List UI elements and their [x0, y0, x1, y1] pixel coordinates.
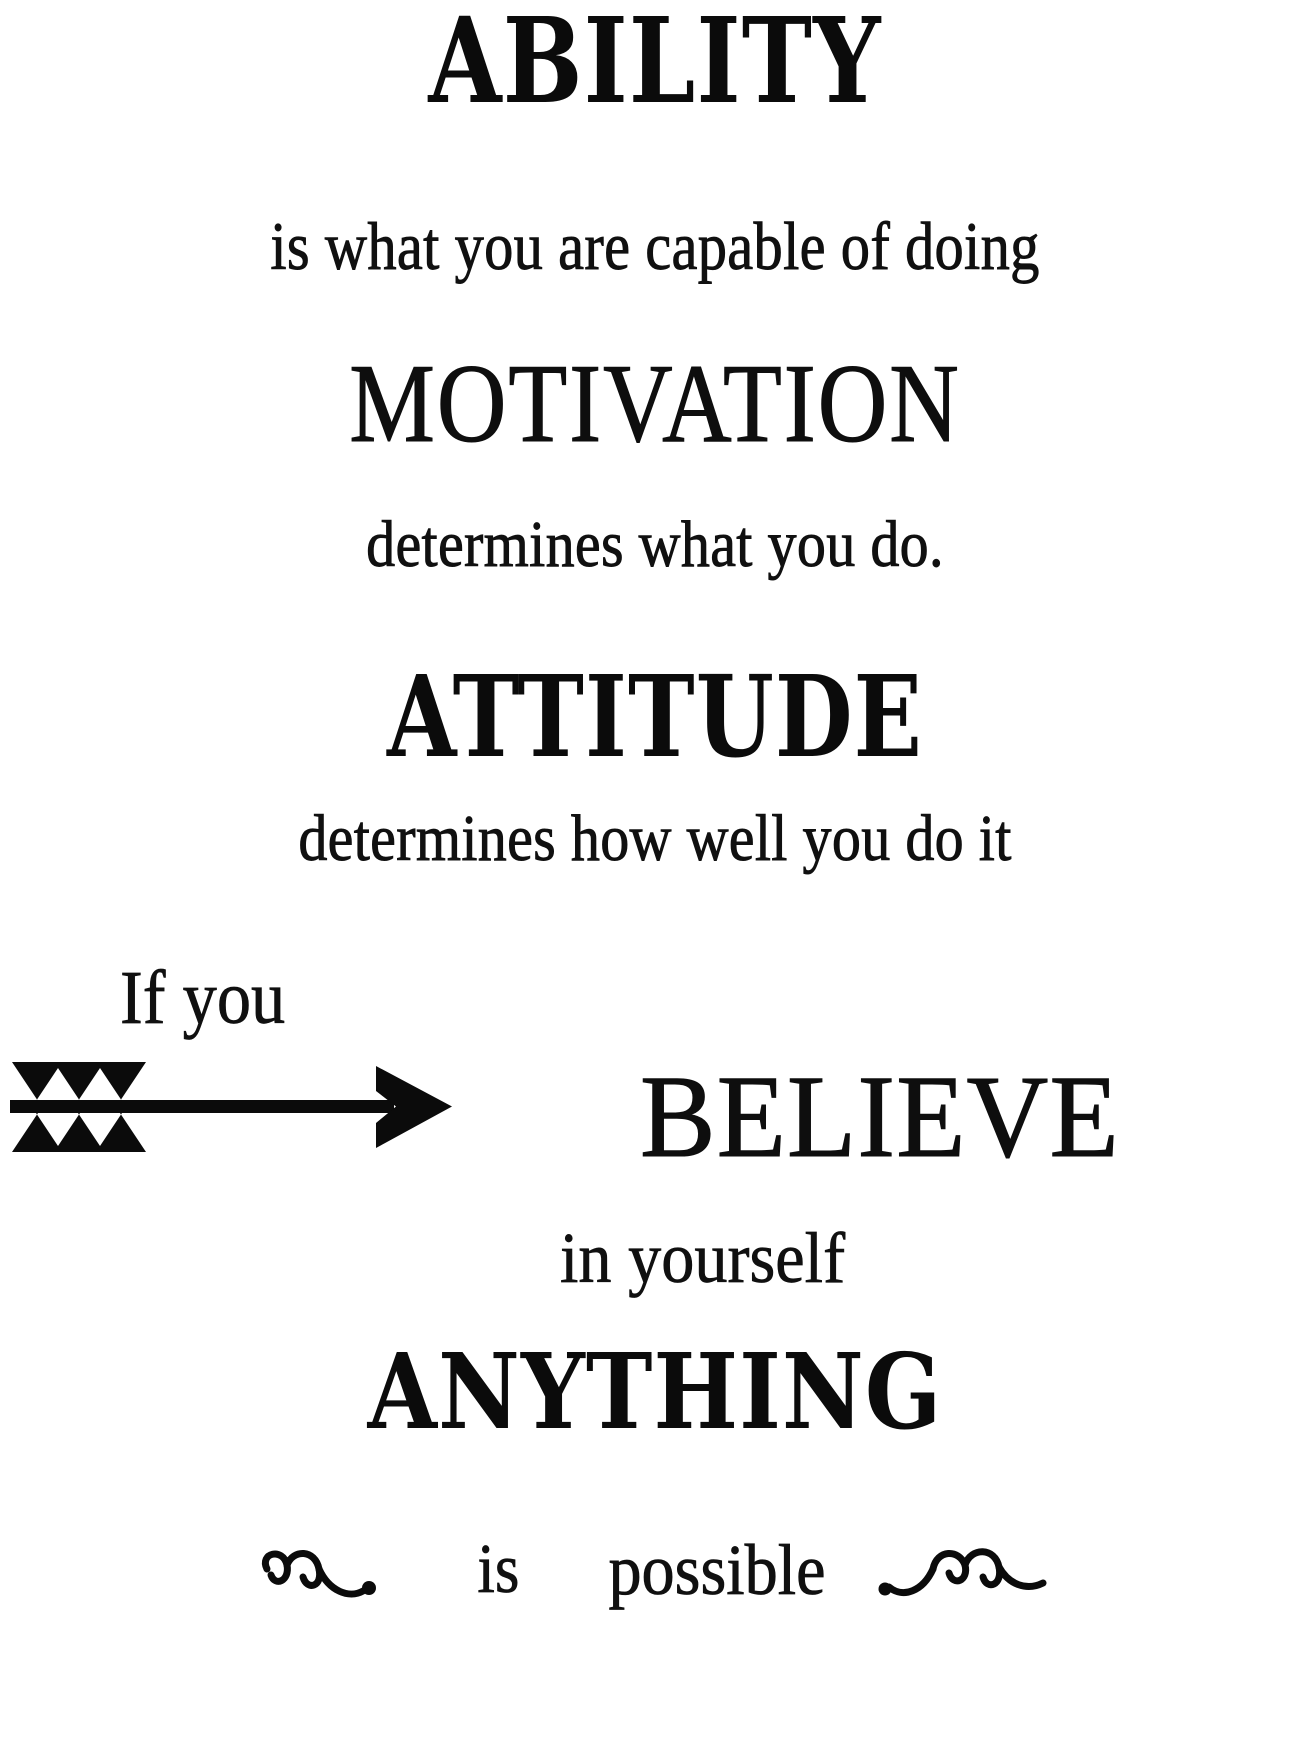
is-word-slot: is [475, 1530, 522, 1610]
ability-subtitle: is what you are capable of doing [92, 212, 1219, 280]
ability-heading: ABILITY [131, 2, 1179, 120]
in-yourself-text: in yourself [560, 1222, 845, 1294]
attitude-subtitle: determines how well you do it [79, 806, 1232, 872]
motivation-heading: MOTIVATION [92, 348, 1219, 460]
flourish-right-slot [875, 1525, 1065, 1615]
swirl-flourish-right-icon [875, 1525, 1065, 1615]
believe-heading: BELIEVE [640, 1058, 1120, 1176]
anything-heading: ANYTHING [92, 1340, 1219, 1444]
bottom-line: is possible [0, 1480, 1310, 1660]
quote-poster: ABILITY is what you are capable of doing… [0, 0, 1310, 1758]
flourish-left-slot [245, 1525, 435, 1615]
right-arrow-icon [4, 1052, 454, 1162]
is-word: is [477, 1530, 519, 1610]
possible-word: possible [609, 1529, 826, 1612]
swirl-flourish-left-icon [245, 1525, 435, 1615]
attitude-heading: ATTITUDE [131, 662, 1179, 774]
motivation-subtitle: determines what you do. [79, 512, 1232, 578]
if-you-text: If you [120, 960, 285, 1036]
possible-word-slot: possible [599, 1529, 835, 1612]
